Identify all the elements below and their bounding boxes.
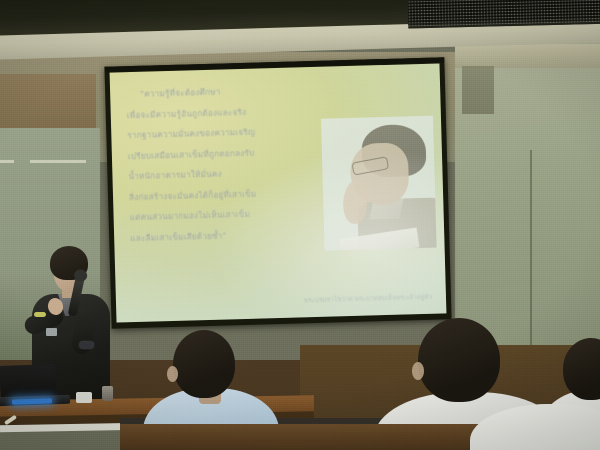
presentation-slide: "ความรู้ที่จะต้องศึกษา เพื่อจะมีความรู้อ…: [110, 63, 447, 322]
audience-head: [418, 318, 500, 402]
audience-head: [563, 338, 600, 400]
slide-portrait-image: [321, 116, 437, 251]
photo-scene: "ความรู้ที่จะต้องศึกษา เพื่อจะมีความรู้อ…: [0, 0, 600, 450]
slide-attribution: พระบรมราโชวาท พระบาทสมเด็จพระเจ้าอยู่หัว: [304, 292, 432, 306]
audience-shirt: [470, 404, 600, 450]
right-wall-band: [455, 44, 600, 68]
desk-white-device: [76, 392, 92, 403]
audience-ear: [167, 366, 178, 382]
wall-trim-left-b: [30, 160, 86, 163]
desk-cup: [102, 386, 113, 401]
right-wall-column: [462, 66, 494, 114]
presenter-wristband: [34, 312, 46, 317]
presenter-watch: [80, 342, 93, 348]
audience-member-foreground: [470, 396, 600, 450]
presenter-badge: [46, 328, 57, 336]
wall-trim-left-a: [0, 160, 14, 163]
audience-head: [173, 330, 235, 398]
audience-ear: [412, 362, 424, 380]
left-wall-beam: [0, 74, 96, 134]
slide-text-block: "ความรู้ที่จะต้องศึกษา เพื่อจะมีความรู้อ…: [126, 78, 345, 248]
air-vent-grille-icon: [408, 0, 600, 29]
projection-screen: "ความรู้ที่จะต้องศึกษา เพื่อจะมีความรู้อ…: [104, 57, 451, 328]
